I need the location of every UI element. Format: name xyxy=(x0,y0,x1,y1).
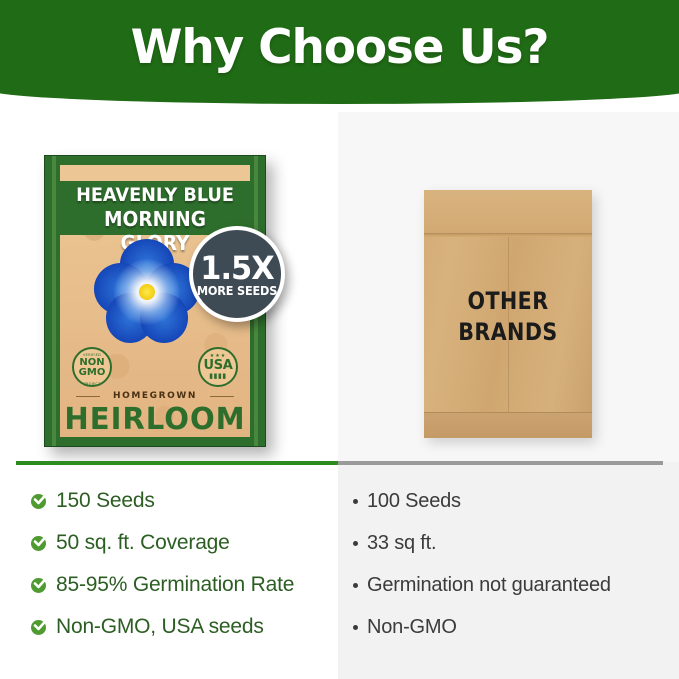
check-icon xyxy=(30,484,52,518)
our-feature-list: 150 Seeds 50 sq. ft. Coverage 85-95% Ger… xyxy=(30,484,340,652)
competitor-label-line-1: OTHER xyxy=(467,287,548,315)
bullet-dot-icon xyxy=(352,610,367,644)
header-banner: Why Choose Us? xyxy=(0,0,679,112)
list-item-label: 85-95% Germination Rate xyxy=(56,568,294,602)
bullet-dot xyxy=(353,583,358,588)
list-item-label: Non-GMO xyxy=(367,610,457,644)
packet-homegrown-label: HOMEGROWN xyxy=(60,391,250,401)
more-seeds-multiplier: 1.5X xyxy=(195,251,279,285)
list-item: 50 sq. ft. Coverage xyxy=(30,526,340,560)
more-seeds-subtitle: MORE SEEDS xyxy=(196,285,279,298)
bullet-dot-icon xyxy=(352,484,367,518)
list-item-label: Non-GMO, USA seeds xyxy=(56,610,264,644)
list-item: 100 Seeds xyxy=(352,484,667,518)
packet-heirloom-label: HEIRLOOM xyxy=(63,404,247,436)
list-item-label: 50 sq. ft. Coverage xyxy=(56,526,230,560)
envelope-bottom-fold xyxy=(424,412,592,438)
non-gmo-line-2: GMO xyxy=(74,368,110,378)
competitor-label: OTHER BRANDS xyxy=(436,286,580,348)
check-icon-tick xyxy=(32,490,51,507)
list-item-label: Germination not guaranteed xyxy=(367,568,611,602)
list-item: 150 Seeds xyxy=(30,484,340,518)
bullet-dot xyxy=(353,625,358,630)
usa-badge-icon: ★★★ USA ▮▮▮▮ xyxy=(198,347,238,387)
check-icon-tick xyxy=(32,616,51,633)
check-icon-tick xyxy=(32,574,51,591)
competitor-label-line-2: BRANDS xyxy=(458,318,557,346)
divider-theirs xyxy=(338,461,663,465)
non-gmo-badge-icon: VERIFIED NON GMO PROJECT xyxy=(72,347,112,387)
list-item: Germination not guaranteed xyxy=(352,568,667,602)
check-icon-tick xyxy=(32,532,51,549)
list-item-label: 150 Seeds xyxy=(56,484,155,518)
list-item: 33 sq ft. xyxy=(352,526,667,560)
envelope-flap xyxy=(424,190,592,234)
check-icon xyxy=(30,526,52,560)
check-icon xyxy=(30,610,52,644)
list-item-label: 100 Seeds xyxy=(367,484,461,518)
usa-label: USA xyxy=(200,359,236,372)
list-item: 85-95% Germination Rate xyxy=(30,568,340,602)
morning-glory-flower-icon xyxy=(94,241,200,345)
list-item: Non-GMO xyxy=(352,610,667,644)
flower-center xyxy=(139,284,155,300)
bullet-dot-icon xyxy=(352,568,367,602)
list-item: Non-GMO, USA seeds xyxy=(30,610,340,644)
packet-title-line-1: HEAVENLY BLUE xyxy=(76,184,234,206)
divider-ours xyxy=(16,461,338,465)
list-item-label: 33 sq ft. xyxy=(367,526,436,560)
bullet-dot xyxy=(353,499,358,504)
usa-stripes: ▮▮▮▮ xyxy=(200,373,236,380)
comparison-infographic: Why Choose Us? HEAVENLY BLUE MORNING GLO… xyxy=(0,0,679,679)
page-title: Why Choose Us? xyxy=(0,20,679,76)
bullet-dot xyxy=(353,541,358,546)
check-icon xyxy=(30,568,52,602)
packet-rail-left xyxy=(52,156,56,446)
competitor-envelope: OTHER BRANDS xyxy=(424,190,592,438)
competitor-feature-list: 100 Seeds 33 sq ft. Germination not guar… xyxy=(352,484,667,652)
bullet-dot-icon xyxy=(352,526,367,560)
non-gmo-bottom-text: PROJECT xyxy=(74,382,110,387)
more-seeds-badge: 1.5X MORE SEEDS xyxy=(189,226,285,322)
